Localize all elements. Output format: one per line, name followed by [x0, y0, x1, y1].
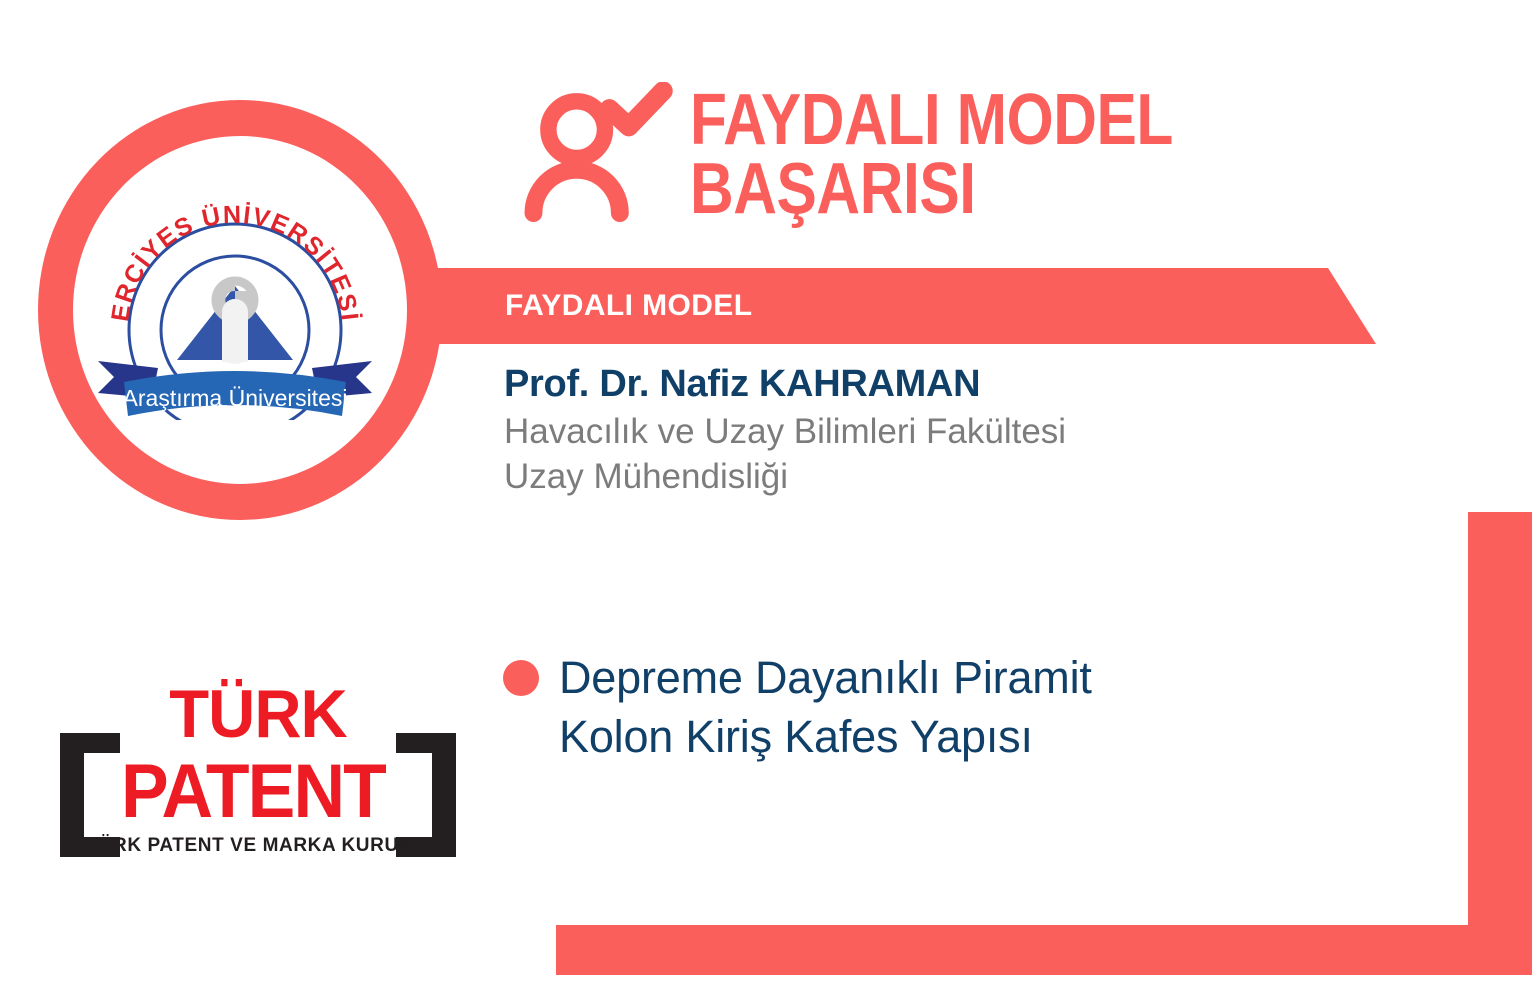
patent-logo-line-2: PATENT: [121, 748, 387, 834]
category-banner-label: FAYDALI MODEL: [505, 289, 752, 323]
invention-item: Depreme Dayanıklı Piramit Kolon Kiriş Ka…: [503, 648, 1363, 767]
corner-frame-horizontal: [556, 925, 1532, 975]
invention-title-line-2: Kolon Kiriş Kafes Yapısı: [559, 707, 1092, 766]
corner-frame-vertical: [1468, 512, 1532, 975]
poster-heading-text: FAYDALI MODEL BAŞARISI: [690, 86, 1173, 224]
erciyes-university-seal: ERCİYES ÜNİVERSİTESİ 1978 Araştırma Üniv…: [90, 190, 380, 420]
invention-title: Depreme Dayanıklı Piramit Kolon Kiriş Ka…: [559, 648, 1092, 767]
person-department-line-2: Uzay Mühendisliği: [504, 455, 1404, 500]
faydali-model-poster: ERCİYES ÜNİVERSİTESİ 1978 Araştırma Üniv…: [0, 0, 1532, 1002]
category-banner: FAYDALI MODEL: [440, 268, 1376, 344]
bullet-dot-icon: [503, 660, 539, 696]
invention-title-line-1: Depreme Dayanıklı Piramit: [559, 648, 1092, 707]
person-block: Prof. Dr. Nafiz KAHRAMAN Havacılık ve Uz…: [504, 362, 1404, 500]
heading-line-2: BAŞARISI: [690, 155, 1173, 224]
person-department-line-1: Havacılık ve Uzay Bilimleri Fakültesi: [504, 410, 1404, 455]
seal-ribbon-text: Araştırma Üniversitesi: [123, 385, 348, 411]
person-name: Prof. Dr. Nafiz KAHRAMAN: [504, 362, 1404, 406]
verified-user-icon: [524, 82, 674, 222]
poster-heading: FAYDALI MODEL BAŞARISI: [524, 78, 1265, 224]
heading-line-1: FAYDALI MODEL: [690, 86, 1173, 155]
person-department: Havacılık ve Uzay Bilimleri Fakültesi Uz…: [504, 410, 1404, 500]
patent-logo-line-1: TÜRK: [169, 677, 347, 752]
turk-patent-logo: TÜRK PATENT TÜRK PATENT VE MARKA KURUMU: [48, 665, 468, 875]
patent-logo-subtitle: TÜRK PATENT VE MARKA KURUMU: [86, 835, 429, 856]
